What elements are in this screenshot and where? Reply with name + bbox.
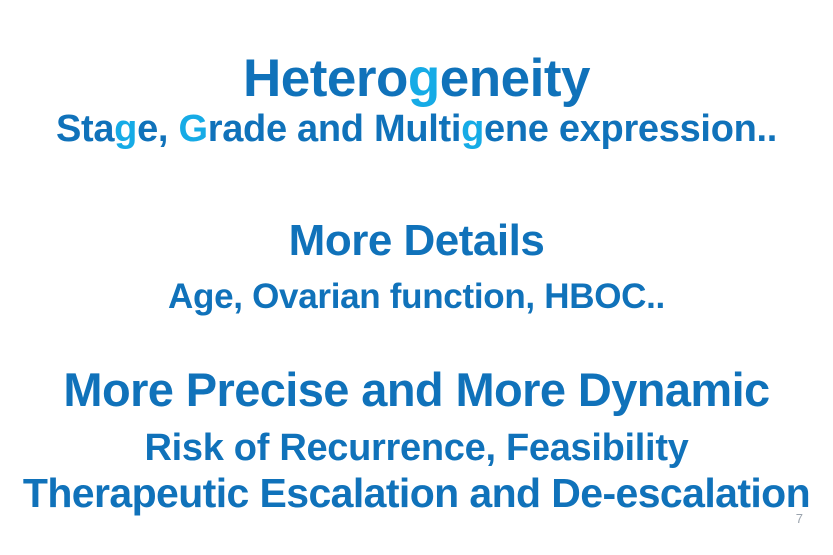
heading-more-details: More Details xyxy=(0,219,833,263)
subheading-risk-recurrence-feasibility: Risk of Recurrence, Feasibility xyxy=(0,429,833,467)
heading-heterogeneity-part-1: Hetero xyxy=(243,49,408,108)
slide-number: 7 xyxy=(796,512,803,525)
subheading-stage-grade-multigene: Stage, Grade and Multigene expression.. xyxy=(0,110,833,148)
heading-more-precise-more-dynamic: More Precise and More Dynamic xyxy=(0,366,833,413)
heading-heterogeneity-part-2-accent: g xyxy=(408,49,440,108)
slide-canvas: Heterogeneity Stage, Grade and Multigene… xyxy=(0,0,833,555)
subheading-stage-part-5: rade and Multi xyxy=(208,108,461,150)
subheading-stage-part-7: ene expression.. xyxy=(484,108,777,150)
subheading-stage-part-2-accent: g xyxy=(114,108,137,150)
subheading-age-ovarian-hboc: Age, Ovarian function, HBOC.. xyxy=(0,279,833,314)
subheading-stage-part-4-accent: G xyxy=(178,108,207,150)
subheading-stage-part-6-accent: g xyxy=(461,108,484,150)
heading-heterogeneity: Heterogeneity xyxy=(0,52,833,105)
subheading-therapeutic-escalation-deescalation: Therapeutic Escalation and De-escalation xyxy=(0,473,833,514)
subheading-stage-part-1: Sta xyxy=(56,108,114,150)
subheading-stage-part-3: e, xyxy=(137,108,178,150)
heading-heterogeneity-part-3: eneity xyxy=(440,49,590,108)
